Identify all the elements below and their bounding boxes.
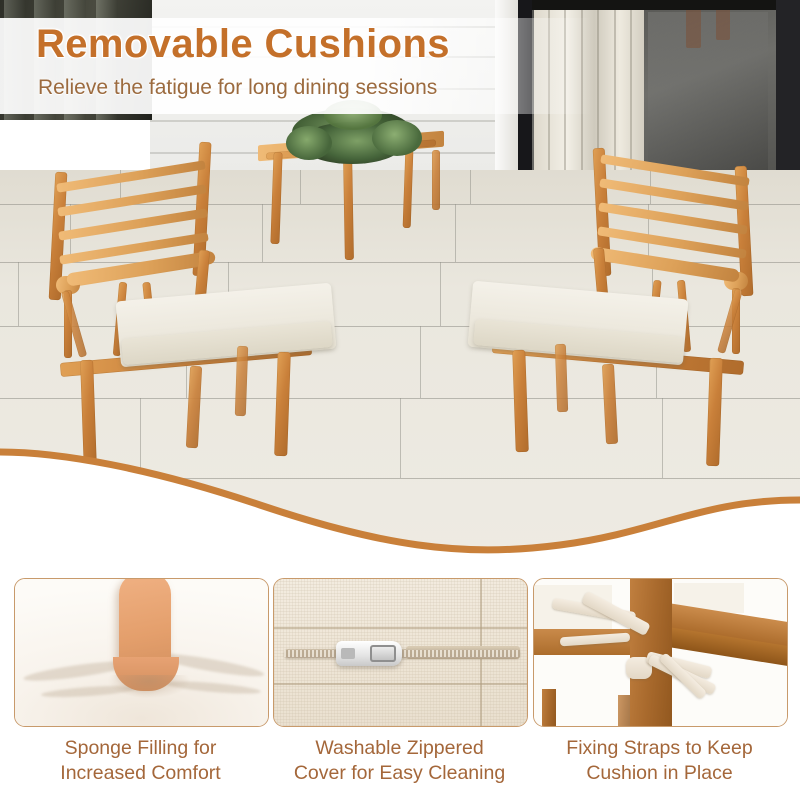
page-subtitle: Relieve the fatigue for long dining sess… [38,76,437,100]
product-feature-graphic: Removable Cushions Relieve the fatigue f… [0,0,800,800]
feature-caption: Fixing Straps to Keep Cushion in Place [533,736,786,786]
feature-thumbnail-zippered-cover [273,578,528,727]
feature-caption: Washable Zippered Cover for Easy Cleanin… [273,736,526,786]
feature-card-fixing-straps: Fixing Straps to Keep Cushion in Place [533,578,786,786]
swoosh-divider [0,420,800,570]
feature-caption: Sponge Filling for Increased Comfort [14,736,267,786]
feature-card-zippered-cover: Washable Zippered Cover for Easy Cleanin… [273,578,526,786]
feature-thumbnail-fixing-straps [533,578,788,727]
feature-thumbnail-sponge-filling [14,578,269,727]
page-title: Removable Cushions [36,22,450,67]
feature-card-sponge-filling: Sponge Filling for Increased Comfort [14,578,267,786]
zipper-pull-icon [370,645,396,662]
feature-panels: Sponge Filling for Increased Comfort Was… [0,578,800,800]
